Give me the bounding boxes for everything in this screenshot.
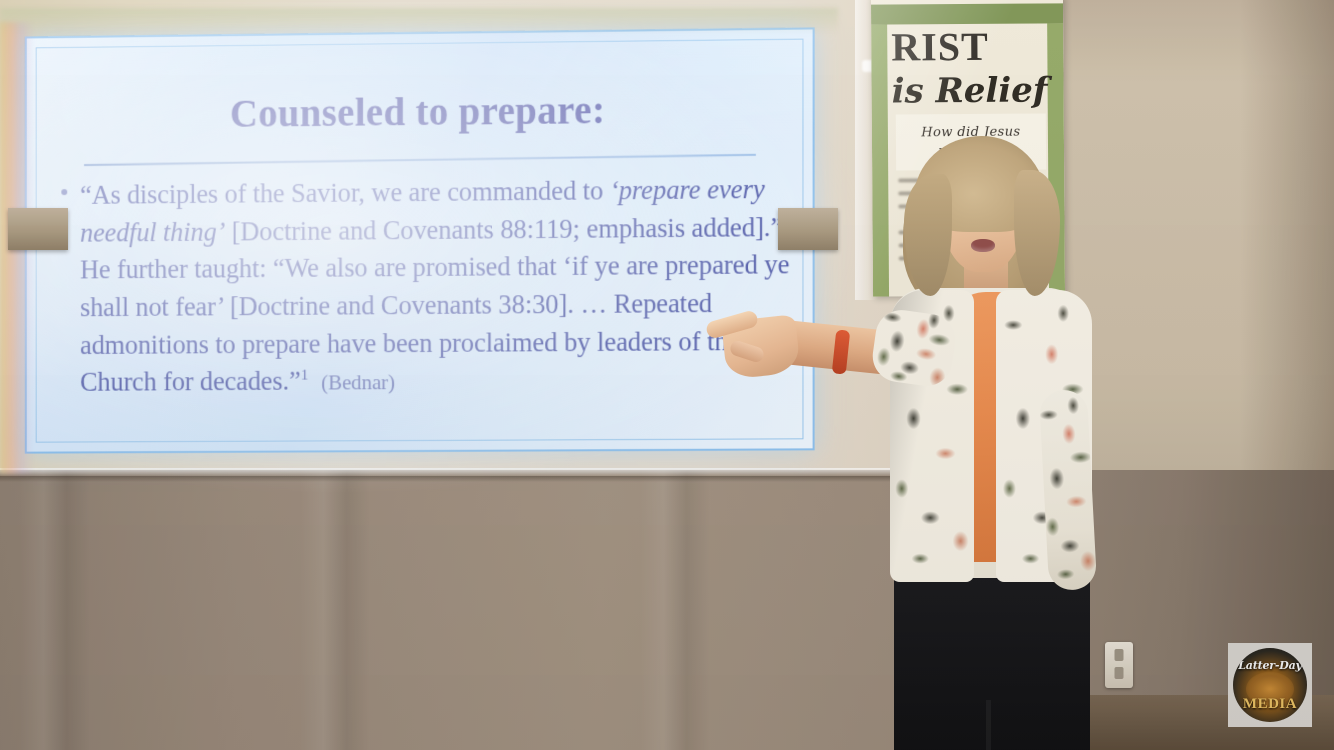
bullet-point-icon <box>61 189 67 195</box>
slide-body: “As disciples of the Savior, we are comm… <box>56 171 796 402</box>
curtain-fold <box>300 470 370 750</box>
projector-screen: Counseled to prepare: “As disciples of t… <box>0 22 838 474</box>
wall-outlet <box>1105 642 1133 688</box>
slide: Counseled to prepare: “As disciples of t… <box>25 27 815 453</box>
quote-attribution: (Bednar) <box>321 370 395 394</box>
curtain-fold <box>20 470 90 750</box>
pants-seam <box>986 700 991 750</box>
curtain-fold <box>640 470 710 750</box>
presenter-sleeve <box>869 307 958 389</box>
screen-bracket-left <box>8 208 68 250</box>
projection-top-fringe <box>0 8 838 34</box>
slide-title: Counseled to prepare: <box>27 86 813 139</box>
footnote-marker: 1 <box>301 367 309 384</box>
presenter-hair-side-right <box>1014 170 1060 296</box>
watermark-logo: Latter-Day MEDIA <box>1233 648 1307 722</box>
slide-quote: “As disciples of the Savior, we are comm… <box>56 171 796 402</box>
floral-pattern <box>869 307 958 389</box>
watermark-top-text: Latter-Day <box>1233 659 1307 672</box>
quote-part-1: “As disciples of the Savior, we are comm… <box>80 175 610 210</box>
channel-watermark: Latter-Day MEDIA <box>1228 643 1312 727</box>
watermark-bottom-text: MEDIA <box>1233 696 1307 713</box>
presenter-mouth <box>971 239 995 252</box>
presenter <box>728 140 1058 750</box>
video-frame: RIST is Relief How did Jesus minister? C… <box>0 0 1334 750</box>
